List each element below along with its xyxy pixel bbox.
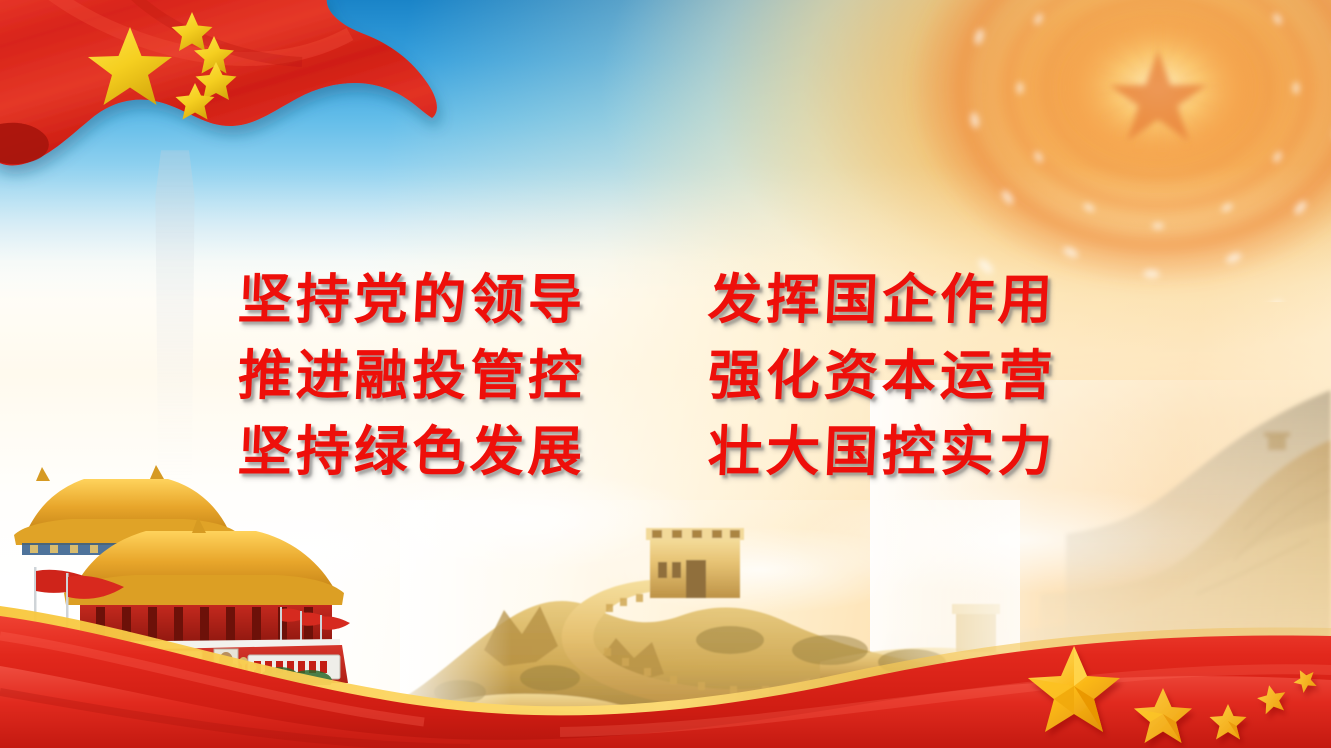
slogan-3-left: 坚持绿色发展 <box>237 420 710 484</box>
poster-canvas: 坚持党的领导 发挥国企作用 推进融投管控 强化资本运营 坚持绿色发展 壮大国控实… <box>0 0 1331 748</box>
slogan-row-3: 坚持绿色发展 壮大国控实力 <box>238 420 1118 484</box>
slogan-2-right: 强化资本运营 <box>707 344 1110 408</box>
slogan-2-left: 推进融投管控 <box>237 344 710 408</box>
slogan-block: 坚持党的领导 发挥国企作用 推进融投管控 强化资本运营 坚持绿色发展 壮大国控实… <box>238 268 1118 484</box>
slogan-1-right: 发挥国企作用 <box>707 268 1110 332</box>
sunburst-halo <box>898 0 1331 302</box>
slogan-row-2: 推进融投管控 强化资本运营 <box>238 344 1118 408</box>
red-ribbon-banner <box>0 588 1331 748</box>
slogan-1-left: 坚持党的领导 <box>237 268 710 332</box>
slogan-3-right: 壮大国控实力 <box>707 420 1110 484</box>
slogan-row-1: 坚持党的领导 发挥国企作用 <box>238 268 1118 332</box>
china-flag <box>0 0 472 194</box>
